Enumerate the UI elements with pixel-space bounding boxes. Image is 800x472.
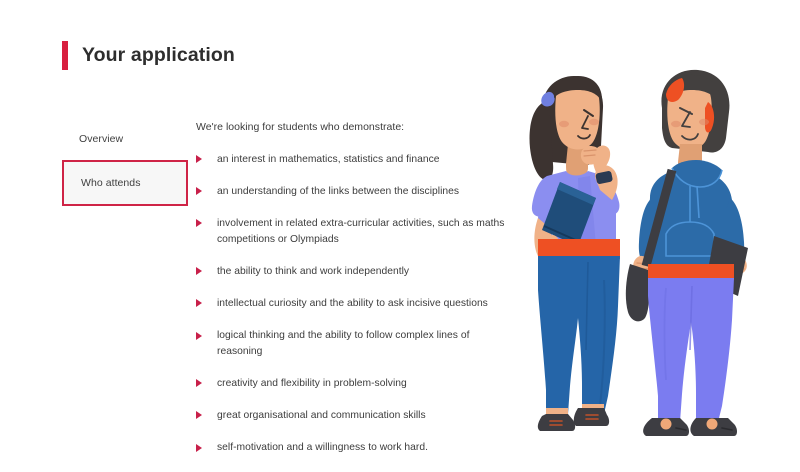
two-students-illustration (500, 50, 800, 440)
list-item: the ability to think and work independen… (196, 264, 516, 280)
sidebar-nav: Overview Who attends (62, 123, 188, 206)
intro-text: We're looking for students who demonstra… (196, 120, 516, 135)
list-item-text: intellectual curiosity and the ability t… (217, 296, 488, 312)
triangle-bullet-icon (196, 411, 202, 419)
title-accent-bar (62, 41, 68, 70)
female-student-figure (530, 76, 620, 431)
list-item-text: creativity and flexibility in problem-so… (217, 376, 407, 392)
title-block: Your application (62, 41, 235, 70)
list-item: an interest in mathematics, statistics a… (196, 152, 516, 168)
triangle-bullet-icon (196, 155, 202, 163)
page-title: Your application (82, 44, 235, 67)
list-item-text: the ability to think and work independen… (217, 264, 409, 280)
requirements-list: an interest in mathematics, statistics a… (196, 152, 516, 456)
list-item: an understanding of the links between th… (196, 184, 516, 200)
triangle-bullet-icon (196, 444, 202, 452)
list-item: great organisational and communication s… (196, 408, 516, 424)
list-item-text: an understanding of the links between th… (217, 184, 459, 200)
list-item: involvement in related extra-curricular … (196, 216, 516, 247)
list-item-text: self-motivation and a willingness to wor… (217, 440, 428, 456)
sidebar-item-who-attends[interactable]: Who attends (62, 160, 188, 206)
triangle-bullet-icon (196, 379, 202, 387)
triangle-bullet-icon (196, 187, 202, 195)
male-student-figure (626, 70, 748, 436)
triangle-bullet-icon (196, 332, 202, 340)
list-item: self-motivation and a willingness to wor… (196, 440, 516, 456)
list-item-text: great organisational and communication s… (217, 408, 426, 424)
triangle-bullet-icon (196, 219, 202, 227)
content-panel: We're looking for students who demonstra… (196, 120, 516, 472)
triangle-bullet-icon (196, 299, 202, 307)
list-item: creativity and flexibility in problem-so… (196, 376, 516, 392)
sidebar-item-label: Who attends (81, 177, 141, 189)
list-item-text: an interest in mathematics, statistics a… (217, 152, 440, 168)
sidebar-item-label: Overview (79, 133, 123, 145)
list-item-text: logical thinking and the ability to foll… (217, 328, 516, 359)
list-item: intellectual curiosity and the ability t… (196, 296, 516, 312)
list-item: logical thinking and the ability to foll… (196, 328, 516, 359)
triangle-bullet-icon (196, 267, 202, 275)
list-item-text: involvement in related extra-curricular … (217, 216, 516, 247)
sidebar-item-overview[interactable]: Overview (62, 123, 188, 154)
